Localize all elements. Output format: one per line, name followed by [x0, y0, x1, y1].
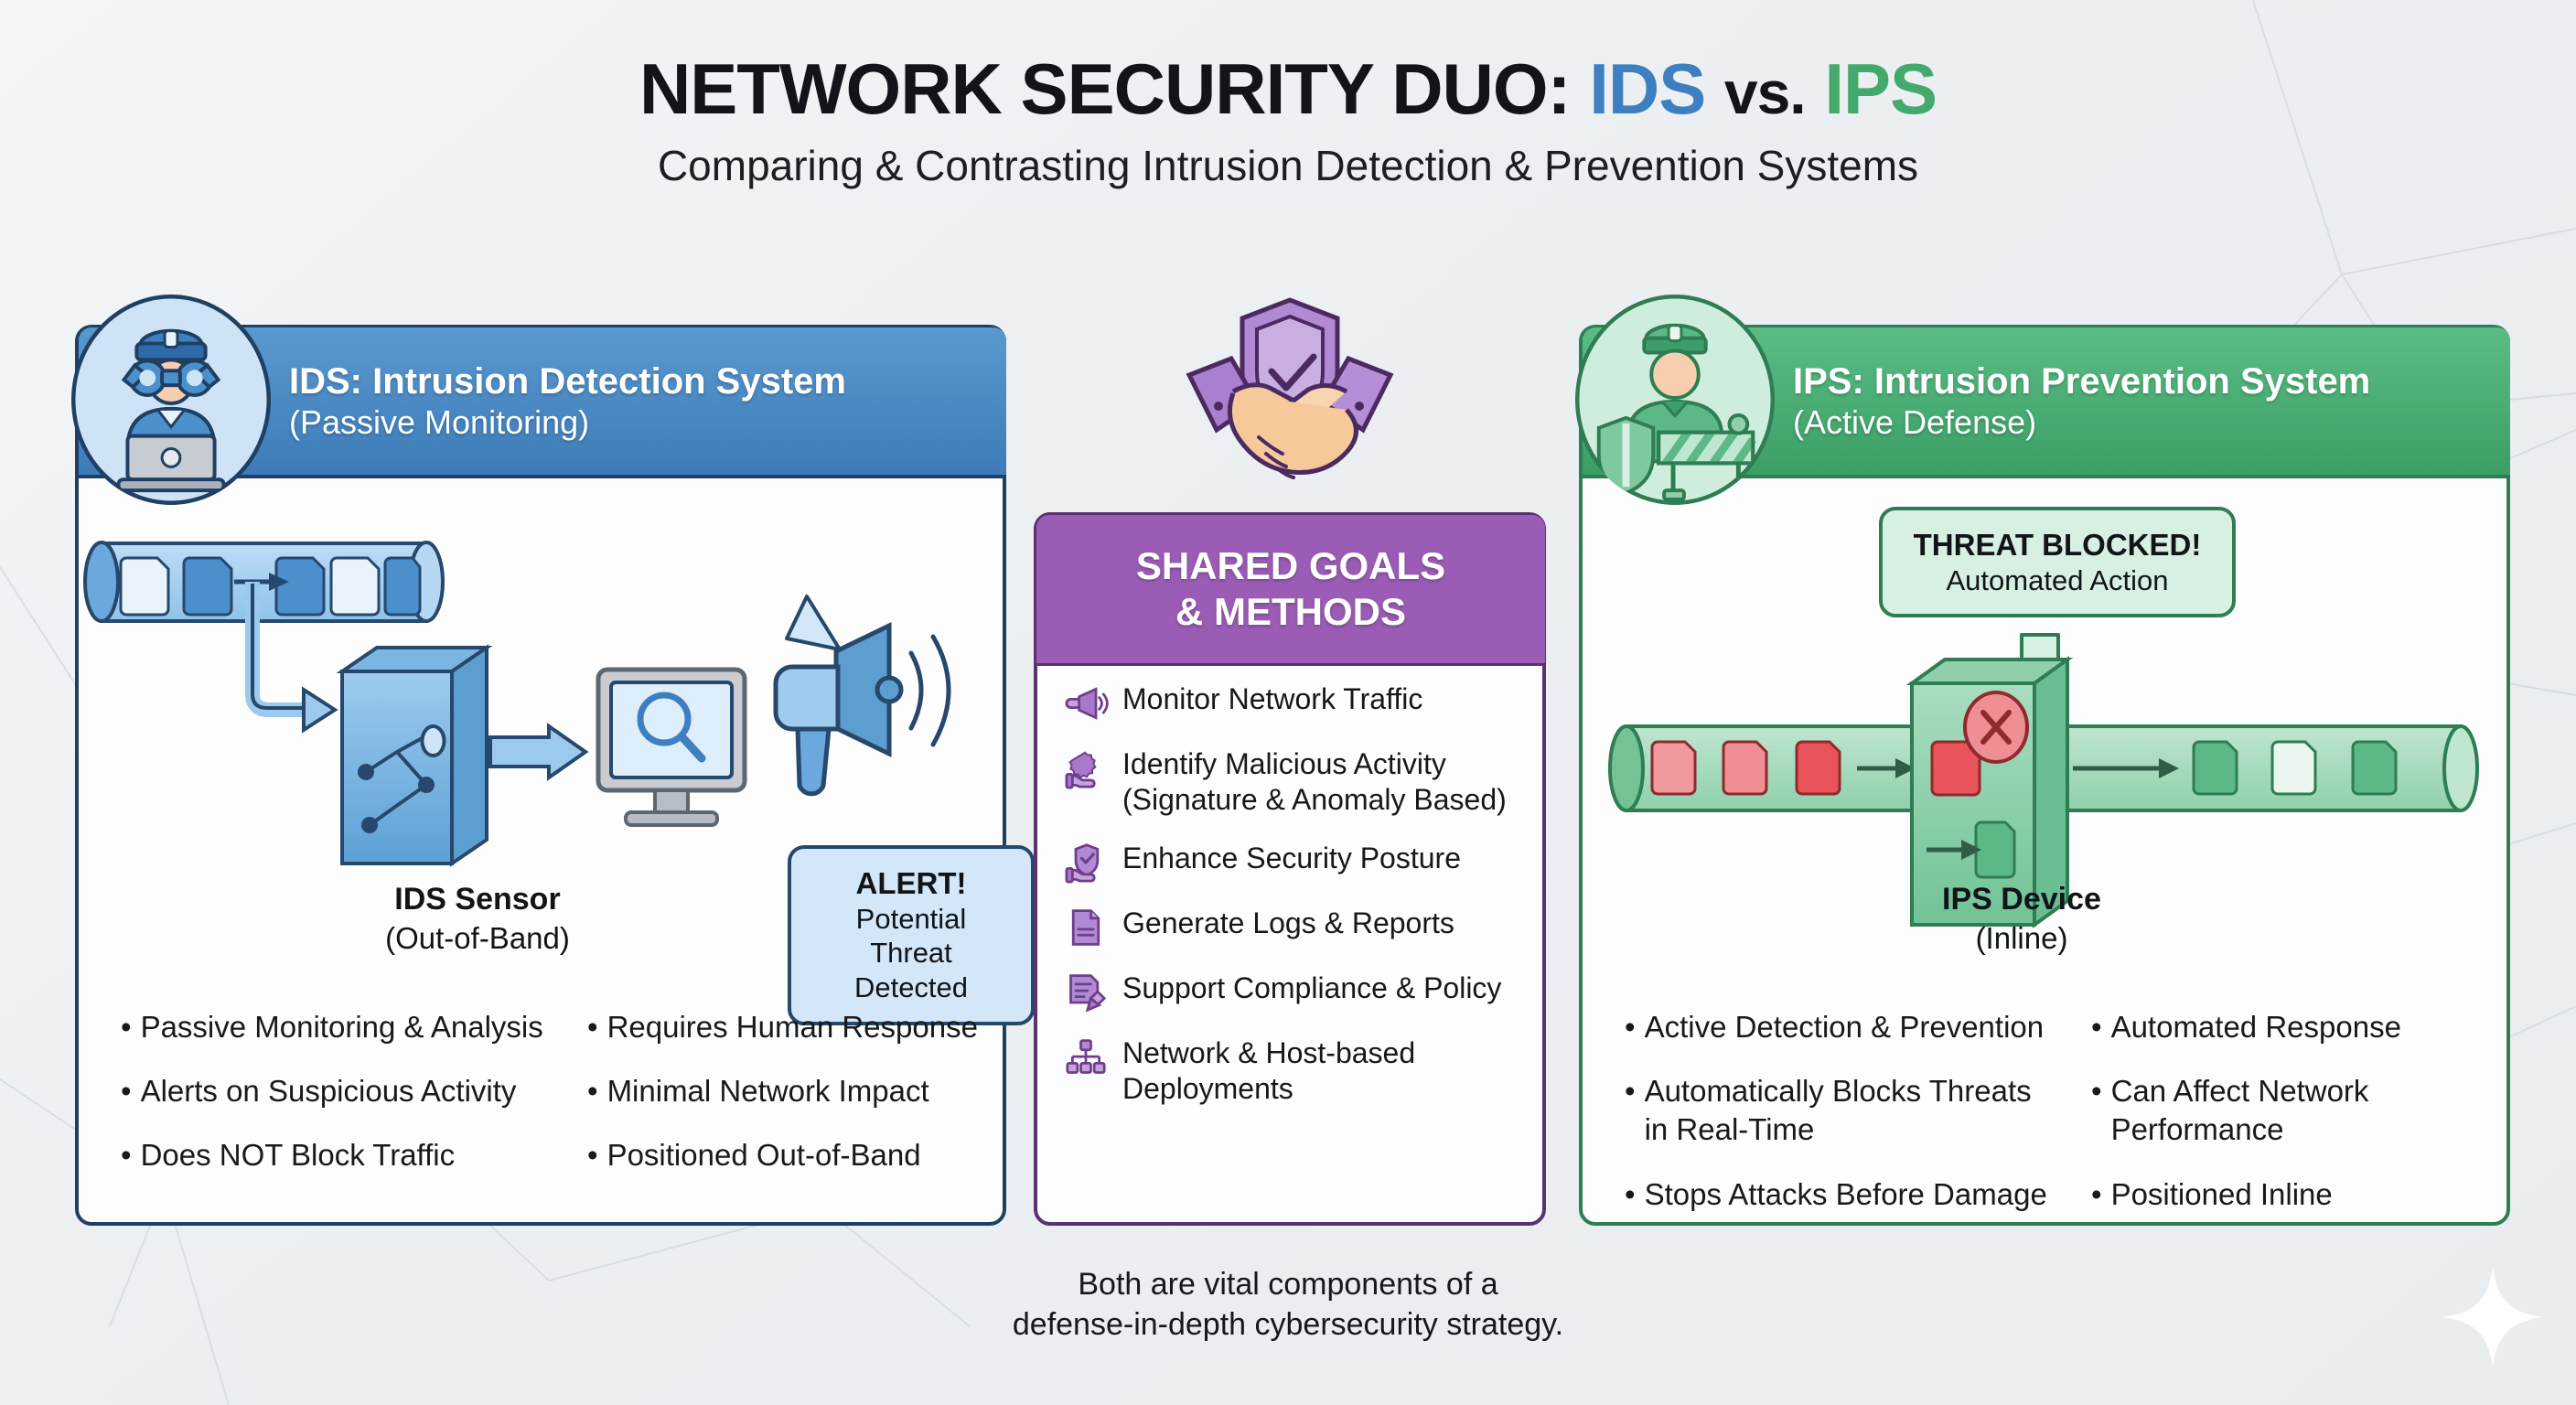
- infographic-canvas: NETWORK SECURITY DUO: IDS vs. IPS Compar…: [0, 0, 2576, 1405]
- ids-bullet-l1: Passive Monitoring & Analysis: [141, 1008, 543, 1046]
- ips-bullets-right: •Automated Response •Can Affect Network …: [2091, 1008, 2521, 1214]
- ids-device-name: IDS Sensor: [295, 882, 660, 917]
- title-vs-text: vs.: [1724, 59, 1806, 126]
- title-block: NETWORK SECURITY DUO: IDS vs. IPS Compar…: [0, 53, 2576, 190]
- list-item: •Positioned Out-of-Band: [587, 1136, 1017, 1174]
- ids-sensor-cube: [342, 648, 487, 863]
- bullet-dot: •: [1625, 1175, 1636, 1214]
- list-item: •Does NOT Block Traffic: [121, 1136, 551, 1174]
- bullet-dot: •: [587, 1136, 598, 1174]
- list-item: •Requires Human Response: [587, 1008, 1017, 1046]
- ids-bullet-l2: Alerts on Suspicious Activity: [141, 1072, 517, 1110]
- ips-bullets-left: •Active Detection & Prevention •Automati…: [1625, 1008, 2055, 1214]
- list-item: Enhance Security Posture: [1066, 841, 1523, 883]
- ips-bullet-r1: Automated Response: [2111, 1008, 2401, 1046]
- ips-bullet-r2: Can Affect Network Performance: [2111, 1072, 2521, 1149]
- shared-goals-list: Monitor Network Traffic Identify Malicio…: [1066, 681, 1523, 1107]
- list-item: Support Compliance & Policy: [1066, 971, 1523, 1013]
- ips-blocked-callout: THREAT BLOCKED! Automated Action: [1879, 507, 2236, 617]
- shared-heading-line2: & METHODS: [1175, 589, 1406, 635]
- list-item: •Can Affect Network Performance: [2091, 1072, 2521, 1149]
- footer-line2: defense-in-depth cybersecurity strategy.: [0, 1304, 2576, 1345]
- shared-goal-6: Network & Host-based Deployments: [1122, 1035, 1523, 1107]
- ids-bullets-right: •Requires Human Response •Minimal Networ…: [587, 1008, 1017, 1175]
- ids-bullets-left: •Passive Monitoring & Analysis •Alerts o…: [121, 1008, 551, 1175]
- ips-device-mode: (Inline): [1839, 921, 2205, 956]
- bullet-dot: •: [121, 1136, 132, 1174]
- footer-line1: Both are vital components of a: [0, 1264, 2576, 1304]
- ids-callout-line2: Potential Threat: [815, 902, 1007, 971]
- ids-bullet-r1: Requires Human Response: [607, 1008, 978, 1046]
- ips-callout-line2: Automated Action: [1906, 563, 2208, 598]
- ids-device-mode: (Out-of-Band): [295, 921, 660, 956]
- bullet-dot: •: [1625, 1008, 1636, 1046]
- ips-device-caption: IPS Device (Inline): [1839, 882, 2205, 956]
- shared-heading-line1: SHARED GOALS: [1136, 543, 1445, 589]
- list-item: Generate Logs & Reports: [1066, 906, 1523, 948]
- ids-bullet-r3: Positioned Out-of-Band: [607, 1136, 921, 1174]
- ips-bullet-l1: Active Detection & Prevention: [1645, 1008, 2045, 1046]
- list-item: •Active Detection & Prevention: [1625, 1008, 2055, 1046]
- ids-monitor: [598, 670, 745, 825]
- list-item: •Alerts on Suspicious Activity: [121, 1072, 551, 1110]
- ids-bullet-r2: Minimal Network Impact: [607, 1072, 929, 1110]
- shared-goals-header: SHARED GOALS & METHODS: [1036, 515, 1545, 666]
- bullet-dot: •: [587, 1008, 598, 1046]
- ips-bullet-l3: Stops Attacks Before Damage: [1645, 1175, 2047, 1214]
- shared-goal-4: Generate Logs & Reports: [1122, 906, 1454, 941]
- list-item: •Passive Monitoring & Analysis: [121, 1008, 551, 1046]
- bullet-dot: •: [1625, 1072, 1636, 1149]
- bullet-dot: •: [2091, 1175, 2102, 1214]
- list-item: •Stops Attacks Before Damage: [1625, 1175, 2055, 1214]
- ids-callout-line1: ALERT!: [815, 865, 1007, 902]
- list-item: •Automated Response: [2091, 1008, 2521, 1046]
- page-title: NETWORK SECURITY DUO: IDS vs. IPS: [0, 53, 2576, 124]
- ids-feature-bullets: •Passive Monitoring & Analysis •Alerts o…: [121, 1008, 1017, 1175]
- ips-feature-bullets: •Active Detection & Prevention •Automati…: [1625, 1008, 2521, 1214]
- officer-binoculars-laptop-icon: [71, 295, 271, 505]
- list-item: Identify Malicious Activity (Signature &…: [1066, 746, 1523, 818]
- bullet-dot: •: [121, 1008, 132, 1046]
- megaphone-icon: [776, 626, 949, 794]
- bullet-dot: •: [587, 1072, 598, 1110]
- page-subtitle: Comparing & Contrasting Intrusion Detect…: [0, 141, 2576, 190]
- list-item: Monitor Network Traffic: [1066, 681, 1523, 724]
- list-item: •Automatically Blocks Threats in Real-Ti…: [1625, 1072, 2055, 1149]
- ips-subheading: (Active Defense): [1793, 402, 2510, 442]
- title-ips-text: IPS: [1824, 48, 1937, 129]
- ids-subheading: (Passive Monitoring): [289, 402, 1006, 442]
- list-item: •Minimal Network Impact: [587, 1072, 1017, 1110]
- shared-goal-1: Monitor Network Traffic: [1122, 681, 1422, 717]
- title-main-text: NETWORK SECURITY DUO:: [639, 48, 1571, 129]
- ips-callout-line1: THREAT BLOCKED!: [1906, 527, 2208, 563]
- shared-goal-3: Enhance Security Posture: [1122, 841, 1461, 876]
- ips-bullet-r3: Positioned Inline: [2111, 1175, 2333, 1214]
- footer-note: Both are vital components of a defense-i…: [0, 1264, 2576, 1345]
- guard-shield-barrier-icon: [1575, 295, 1775, 505]
- ids-callout-line3: Detected: [815, 971, 1007, 1005]
- block-x-icon: [1965, 692, 2027, 762]
- ips-heading: IPS: Intrusion Prevention System: [1793, 360, 2510, 402]
- megaphone-icon: [1066, 683, 1106, 724]
- document-pen-icon: [1066, 972, 1106, 1013]
- ips-bullet-l2: Automatically Blocks Threats in Real-Tim…: [1645, 1072, 2055, 1149]
- title-ids-text: IDS: [1589, 48, 1705, 129]
- ids-alert-callout: ALERT! Potential Threat Detected: [788, 845, 1035, 1025]
- list-item: Network & Host-based Deployments: [1066, 1035, 1523, 1107]
- bullet-dot: •: [2091, 1008, 2102, 1046]
- shared-goal-5: Support Compliance & Policy: [1122, 971, 1501, 1006]
- ips-device-name: IPS Device: [1839, 882, 2205, 917]
- ids-heading: IDS: Intrusion Detection System: [289, 360, 1006, 402]
- network-tree-icon: [1066, 1037, 1106, 1078]
- bullet-dot: •: [2091, 1072, 2102, 1149]
- document-lines-icon: [1066, 907, 1106, 948]
- list-item: •Positioned Inline: [2091, 1175, 2521, 1214]
- handshake-shield-check-icon: [1180, 291, 1400, 485]
- shared-goal-2: Identify Malicious Activity (Signature &…: [1122, 746, 1523, 818]
- hand-shield-check-icon: [1066, 842, 1106, 883]
- ids-bullet-l3: Does NOT Block Traffic: [141, 1136, 456, 1174]
- hand-virus-icon: [1066, 748, 1106, 788]
- ids-device-caption: IDS Sensor (Out-of-Band): [295, 882, 660, 956]
- bullet-dot: •: [121, 1072, 132, 1110]
